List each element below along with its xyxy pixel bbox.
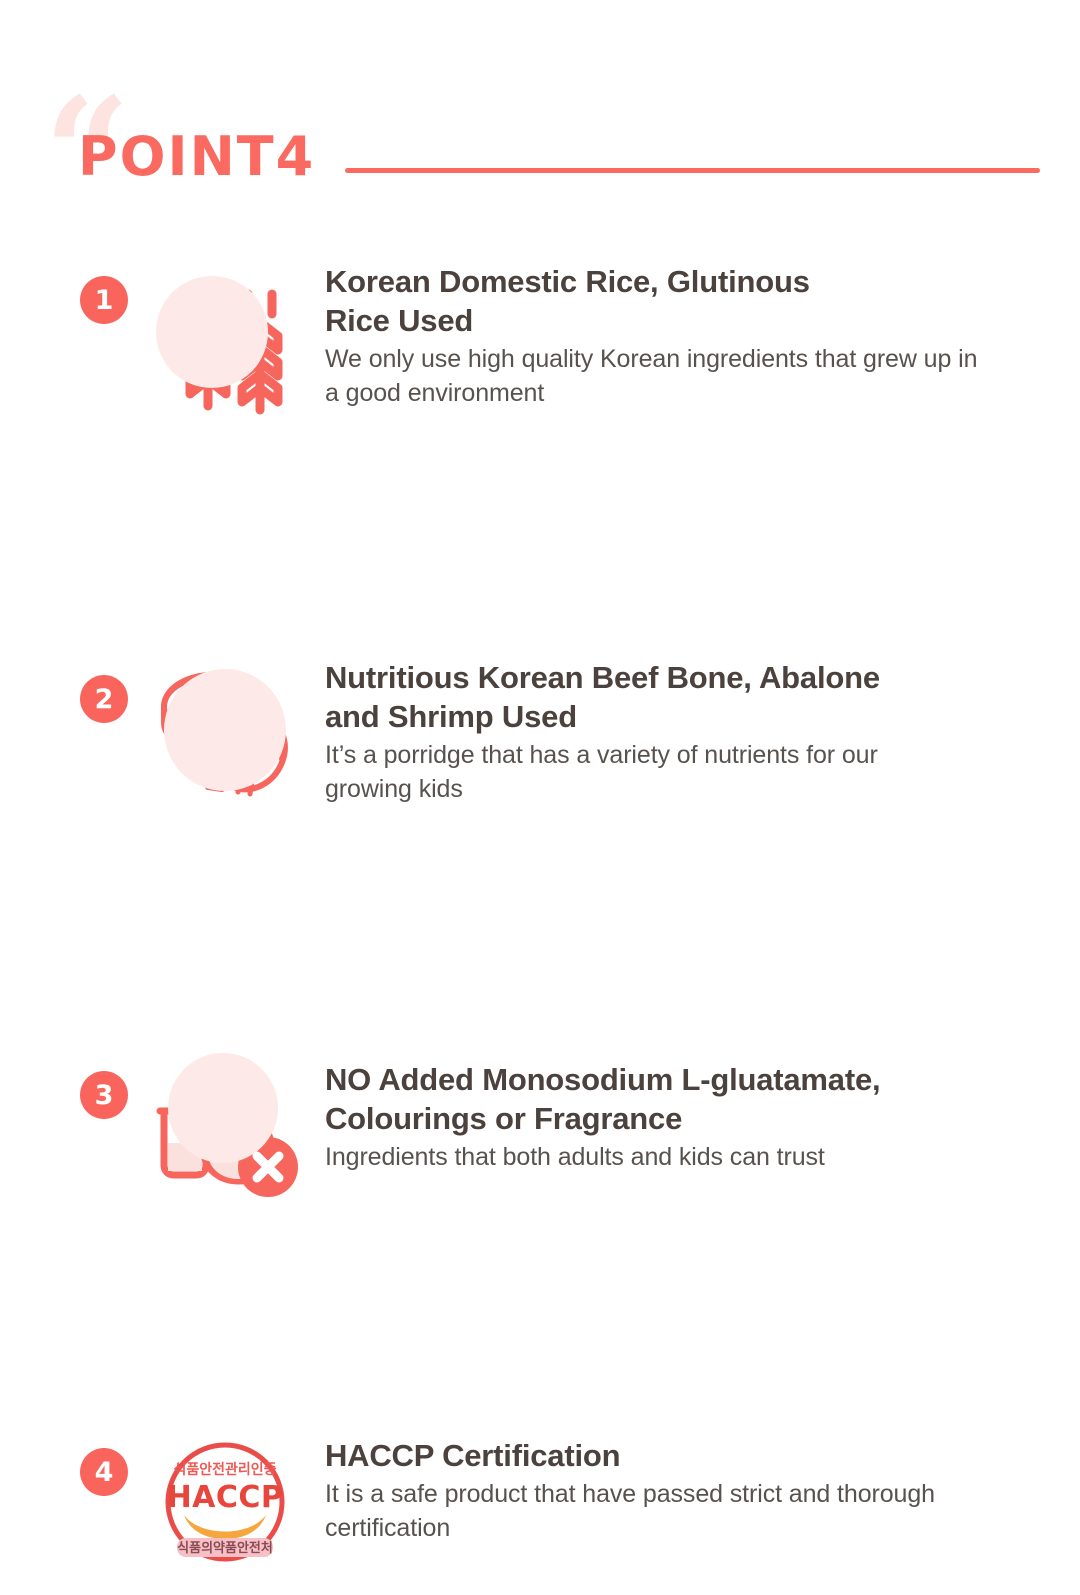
icon-backdrop (156, 276, 268, 388)
point-text-block: NO Added Monosodium L-gluatamate, Colour… (325, 1060, 1025, 1174)
points-list: 1 (0, 248, 1080, 1008)
point-title: Korean Domestic Rice, Glutinous Rice Use… (325, 262, 1025, 340)
icon-backdrop (168, 1053, 278, 1163)
page-title: POINT4 (78, 130, 315, 184)
haccp-bottom-text: 식품의약품안전처 (177, 1540, 273, 1556)
list-item: 3 (0, 648, 1080, 838)
header-divider (345, 168, 1040, 173)
list-item: 4 식품안전관리인증 HACCP 식품의약품안전처 HACCP Certific… (0, 838, 1080, 1008)
point-description: We only use high quality Korean ingredie… (325, 342, 1025, 410)
point-number-badge: 3 (80, 1071, 128, 1119)
point-text-block: HACCP Certification It is a safe product… (325, 1436, 1025, 1545)
point-title: NO Added Monosodium L-gluatamate, Colour… (325, 1060, 1025, 1138)
no-additives-flask-icon (150, 1051, 310, 1211)
haccp-logo-glyph: 식품안전관리인증 HACCP 식품의약품안전처 (160, 1441, 290, 1563)
haccp-certification-logo: 식품안전관리인증 HACCP 식품의약품안전처 (150, 1435, 310, 1595)
point-description: Ingredients that both adults and kids ca… (325, 1140, 1025, 1174)
point-description: It is a safe product that have passed st… (325, 1477, 1025, 1545)
point-title: HACCP Certification (325, 1436, 1025, 1475)
point-number-badge: 4 (80, 1448, 128, 1496)
haccp-main-text: HACCP (167, 1480, 284, 1515)
list-item: 1 (0, 248, 1080, 448)
wheat-icon (150, 258, 310, 418)
point-number-badge: 1 (80, 276, 128, 324)
list-item: 2 (0, 448, 1080, 648)
point-text-block: Korean Domestic Rice, Glutinous Rice Use… (325, 262, 1025, 410)
haccp-top-text: 식품안전관리인증 (173, 1461, 276, 1478)
header: “ POINT4 (0, 0, 1080, 230)
